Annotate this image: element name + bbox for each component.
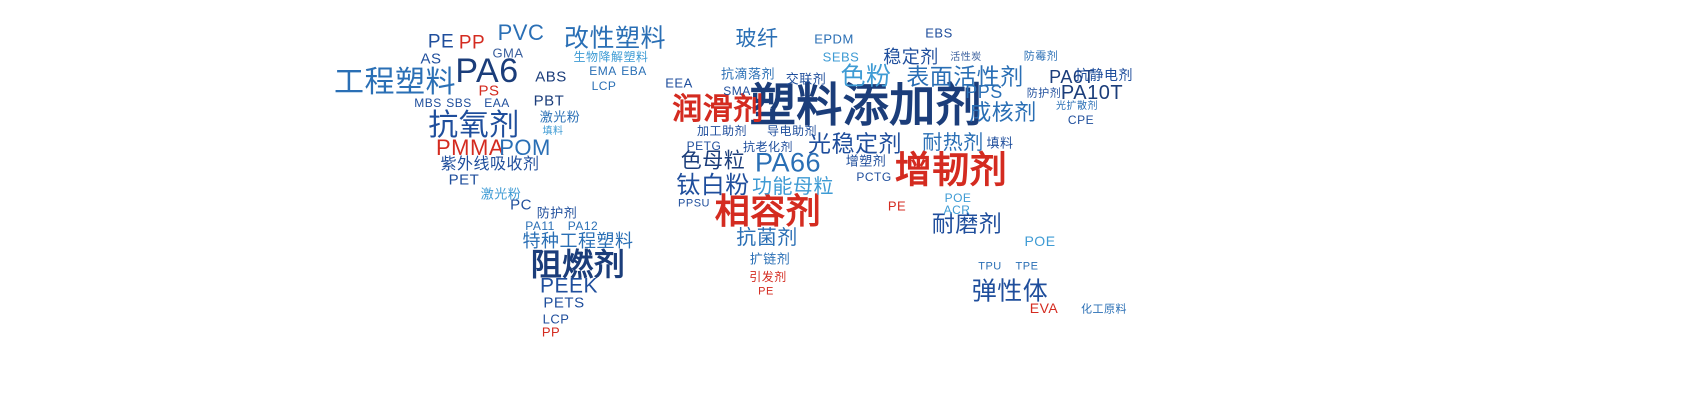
- cloud-word[interactable]: 玻纤: [736, 29, 779, 50]
- cloud-word[interactable]: 加工助剂: [697, 125, 747, 137]
- cloud-word[interactable]: 抗滴落剂: [721, 68, 775, 81]
- cloud-word[interactable]: PE: [428, 33, 454, 52]
- cloud-word[interactable]: 激光粉: [481, 188, 522, 201]
- cloud-word[interactable]: 填料: [986, 137, 1013, 150]
- cloud-word[interactable]: PA12: [568, 220, 598, 232]
- cloud-word[interactable]: 交联剂: [786, 73, 827, 86]
- cloud-word[interactable]: 工程塑料: [334, 68, 456, 98]
- cloud-word[interactable]: 成核剂: [969, 102, 1037, 124]
- cloud-word[interactable]: EBA: [621, 65, 647, 77]
- cloud-word[interactable]: EPDM: [814, 33, 854, 46]
- cloud-word[interactable]: CPE: [1068, 114, 1094, 126]
- cloud-word[interactable]: POE: [1024, 234, 1055, 248]
- cloud-word[interactable]: 引发剂: [749, 271, 787, 283]
- cloud-word[interactable]: 相容剂: [715, 195, 822, 230]
- cloud-word[interactable]: 防护剂: [537, 207, 578, 220]
- cloud-word[interactable]: 扩链剂: [750, 253, 791, 266]
- word-cloud-canvas: 塑料添加剂增韧剂相容剂阻燃剂润滑剂工程塑料抗氧剂PA6PMMAPOM改性塑料表面…: [0, 0, 1707, 400]
- cloud-word[interactable]: 耐热剂: [922, 133, 984, 153]
- cloud-word[interactable]: PE: [888, 200, 906, 213]
- cloud-word[interactable]: 润滑剂: [672, 95, 764, 125]
- cloud-word[interactable]: 生物降解塑料: [573, 51, 648, 63]
- cloud-word[interactable]: LCP: [592, 80, 617, 92]
- cloud-word[interactable]: 防霉剂: [1024, 52, 1059, 63]
- cloud-word[interactable]: PVC: [498, 22, 545, 44]
- cloud-word[interactable]: SMA: [723, 85, 751, 97]
- cloud-word[interactable]: 功能母粒: [752, 177, 834, 197]
- cloud-word[interactable]: 增塑剂: [846, 155, 887, 168]
- cloud-word[interactable]: PP: [459, 34, 485, 53]
- cloud-word[interactable]: 色母粒: [681, 151, 746, 172]
- cloud-word[interactable]: MBS: [414, 97, 442, 109]
- cloud-word[interactable]: TPE: [1016, 262, 1039, 273]
- cloud-word[interactable]: 改性塑料: [564, 27, 666, 52]
- cloud-word[interactable]: EBS: [925, 27, 953, 40]
- cloud-word[interactable]: PETS: [543, 296, 584, 311]
- cloud-word[interactable]: 增韧剂: [895, 152, 1008, 189]
- cloud-word[interactable]: PEEK: [540, 276, 598, 297]
- cloud-word[interactable]: PCTG: [856, 171, 891, 183]
- cloud-word[interactable]: TPU: [978, 262, 1002, 273]
- cloud-word[interactable]: 光扩散剂: [1056, 102, 1098, 112]
- cloud-word[interactable]: 活性炭: [950, 53, 982, 63]
- cloud-word[interactable]: PA11: [525, 220, 555, 232]
- cloud-word[interactable]: 抗静电剂: [1075, 68, 1133, 82]
- cloud-word[interactable]: 色粉: [840, 65, 891, 90]
- cloud-word[interactable]: 填料: [543, 127, 564, 137]
- cloud-word[interactable]: EAA: [484, 97, 510, 109]
- cloud-word[interactable]: SBS: [446, 97, 472, 109]
- cloud-word[interactable]: PP: [542, 326, 560, 339]
- cloud-word[interactable]: ACR: [944, 204, 971, 216]
- cloud-word[interactable]: PPSU: [678, 199, 710, 210]
- cloud-word[interactable]: 特种工程塑料: [523, 232, 634, 250]
- cloud-word[interactable]: PET: [449, 173, 480, 188]
- cloud-word[interactable]: PETG: [687, 140, 722, 152]
- cloud-word[interactable]: 稳定剂: [883, 48, 939, 66]
- cloud-word[interactable]: PE: [758, 287, 774, 298]
- cloud-word[interactable]: 钛白粉: [676, 174, 750, 198]
- cloud-word[interactable]: SEBS: [823, 51, 860, 64]
- cloud-word[interactable]: PBT: [534, 94, 565, 109]
- cloud-word[interactable]: 抗老化剂: [743, 141, 793, 153]
- cloud-word[interactable]: EMA: [589, 65, 617, 77]
- cloud-word[interactable]: ABS: [535, 70, 567, 85]
- cloud-word[interactable]: 防护剂: [1027, 89, 1062, 100]
- cloud-word[interactable]: AS: [420, 52, 441, 67]
- cloud-word[interactable]: PPS: [965, 83, 1003, 101]
- cloud-word[interactable]: GMA: [492, 47, 523, 60]
- cloud-word[interactable]: 激光粉: [540, 111, 581, 124]
- cloud-word[interactable]: EEA: [665, 77, 693, 90]
- cloud-word[interactable]: 化工原料: [1081, 305, 1127, 316]
- cloud-word[interactable]: EVA: [1030, 301, 1058, 315]
- cloud-word[interactable]: 导电助剂: [767, 125, 817, 137]
- cloud-word[interactable]: 抗菌剂: [736, 228, 798, 248]
- cloud-word[interactable]: 光稳定剂: [808, 133, 902, 156]
